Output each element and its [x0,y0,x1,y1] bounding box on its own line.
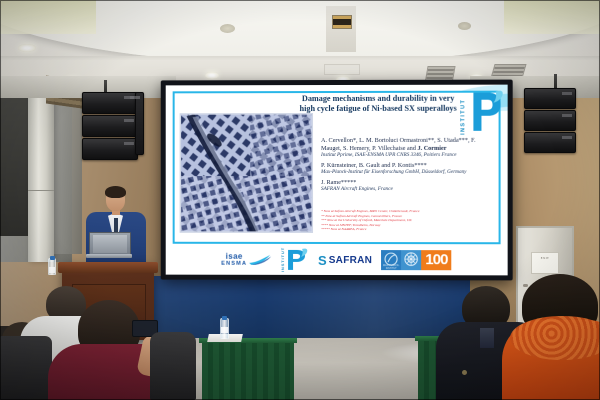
bottle-label [221,327,228,333]
coat-button-icon [462,370,467,375]
ensma-wordmark: ENSMA [221,261,247,267]
projection-screen: Damage mechanisms and durability in very… [161,80,513,281]
institut-p-logo-vertical-text: INSTITUT [280,247,285,272]
mpi-logo-2 [401,250,421,270]
isae-swoosh-icon [249,255,271,265]
safran-s-mark: S [318,252,327,267]
speaker-rigging [554,74,557,89]
bottle-cap [222,316,227,320]
mpi-logo-1: MAX-PLANCK-INSTITUT [381,250,401,270]
affiliation-3: SAFRAN Aircraft Engines, France [321,186,498,193]
institut-p-logo-mark [285,248,309,272]
draped-table-left [202,338,294,400]
logo-safran: S SAFRAN [318,252,372,267]
slide-title: Damage mechanisms and durability in very… [283,94,473,114]
chair-back [0,336,52,400]
slide-title-line2: high cycle fatigue of Ni-based SX supera… [300,104,457,113]
authors-line-1: A. Cervellon*, L. M. Bortoluci Ormastron… [321,137,498,145]
presentation-slide: Damage mechanisms and durability in very… [166,85,508,276]
speaker-icon [82,138,138,160]
door-sign: EXIT [531,252,559,274]
laptop-base [86,254,132,258]
speaker-stack-left [82,92,138,161]
logo-mpi-centenary: MAX-PLANCK-INSTITUT 100 [381,250,451,270]
bottle-cap [50,256,55,260]
institut-p-vertical-text: INSTITUT [460,99,466,135]
mpi-caption: MAX-PLANCK-INSTITUT [381,264,401,270]
speaker-stack-right [524,88,576,154]
centenary-100-logo: 100 [421,250,451,270]
speaker-icon [524,110,576,131]
institut-p-logo: INSTITUT [461,90,501,134]
micrograph-image [180,113,313,233]
wall-panel-grey [54,84,82,254]
slide-logo-bar: isae ENSMA INSTITUT S [166,245,508,276]
ceiling [0,0,600,86]
speaker-icon [524,132,576,153]
downlight-icon [205,72,219,79]
wall-pillar [28,82,54,262]
isae-wordmark: isae [226,253,243,261]
speaker-icon [82,115,138,137]
affiliation-2: Max-Planck-Institut für Eisenforschung G… [321,169,498,176]
ceiling-light-fixture [326,6,356,52]
slide-authors: A. Cervellon*, L. M. Bortoluci Ormastron… [321,137,498,195]
footnote-5: ***** Now at NAAREA, France [321,227,502,232]
audience-collar [480,328,494,348]
speaker-icon [524,88,576,109]
speaker-side-panel [135,92,144,155]
authors-line-2-bold: J. Cormier [418,145,447,152]
water-bottle [48,258,56,275]
slide-footnotes: * Now at Safran Aircraft Engines, MRO Ce… [321,209,502,232]
downlight-icon [220,24,235,33]
audience-member-orange-hood [508,276,600,400]
downlight-icon [458,22,471,30]
podium-top [58,262,158,273]
logo-isae-ensma: isae ENSMA [221,253,271,268]
cove-light-right [504,0,600,34]
chair-back [150,332,196,400]
bottle-label [49,267,55,273]
water-bottle [220,318,229,339]
affiliation-1: Institut Pprime, ISAE-ENSMA UPR CNRS 334… [321,152,498,160]
presenter-hair [105,186,126,198]
table-drape [202,343,294,400]
ceiling-slot [324,64,360,75]
logo-institut-p: INSTITUT [280,247,309,272]
wall-recess-dark [0,76,30,236]
presentation-photo: EXIT Damage mechanisms and durability in… [0,0,600,400]
cove-light-left [0,0,96,34]
downlight-icon [18,44,36,52]
authors-line-2-pre: Mauget, S. Hemery, P. Villechaise and [321,145,418,152]
slide-title-line1: Damage mechanisms and durability in very [302,94,454,103]
laptop-screen [89,232,131,256]
presenter-laptop[interactable] [86,232,132,258]
safran-wordmark: SAFRAN [329,254,372,265]
